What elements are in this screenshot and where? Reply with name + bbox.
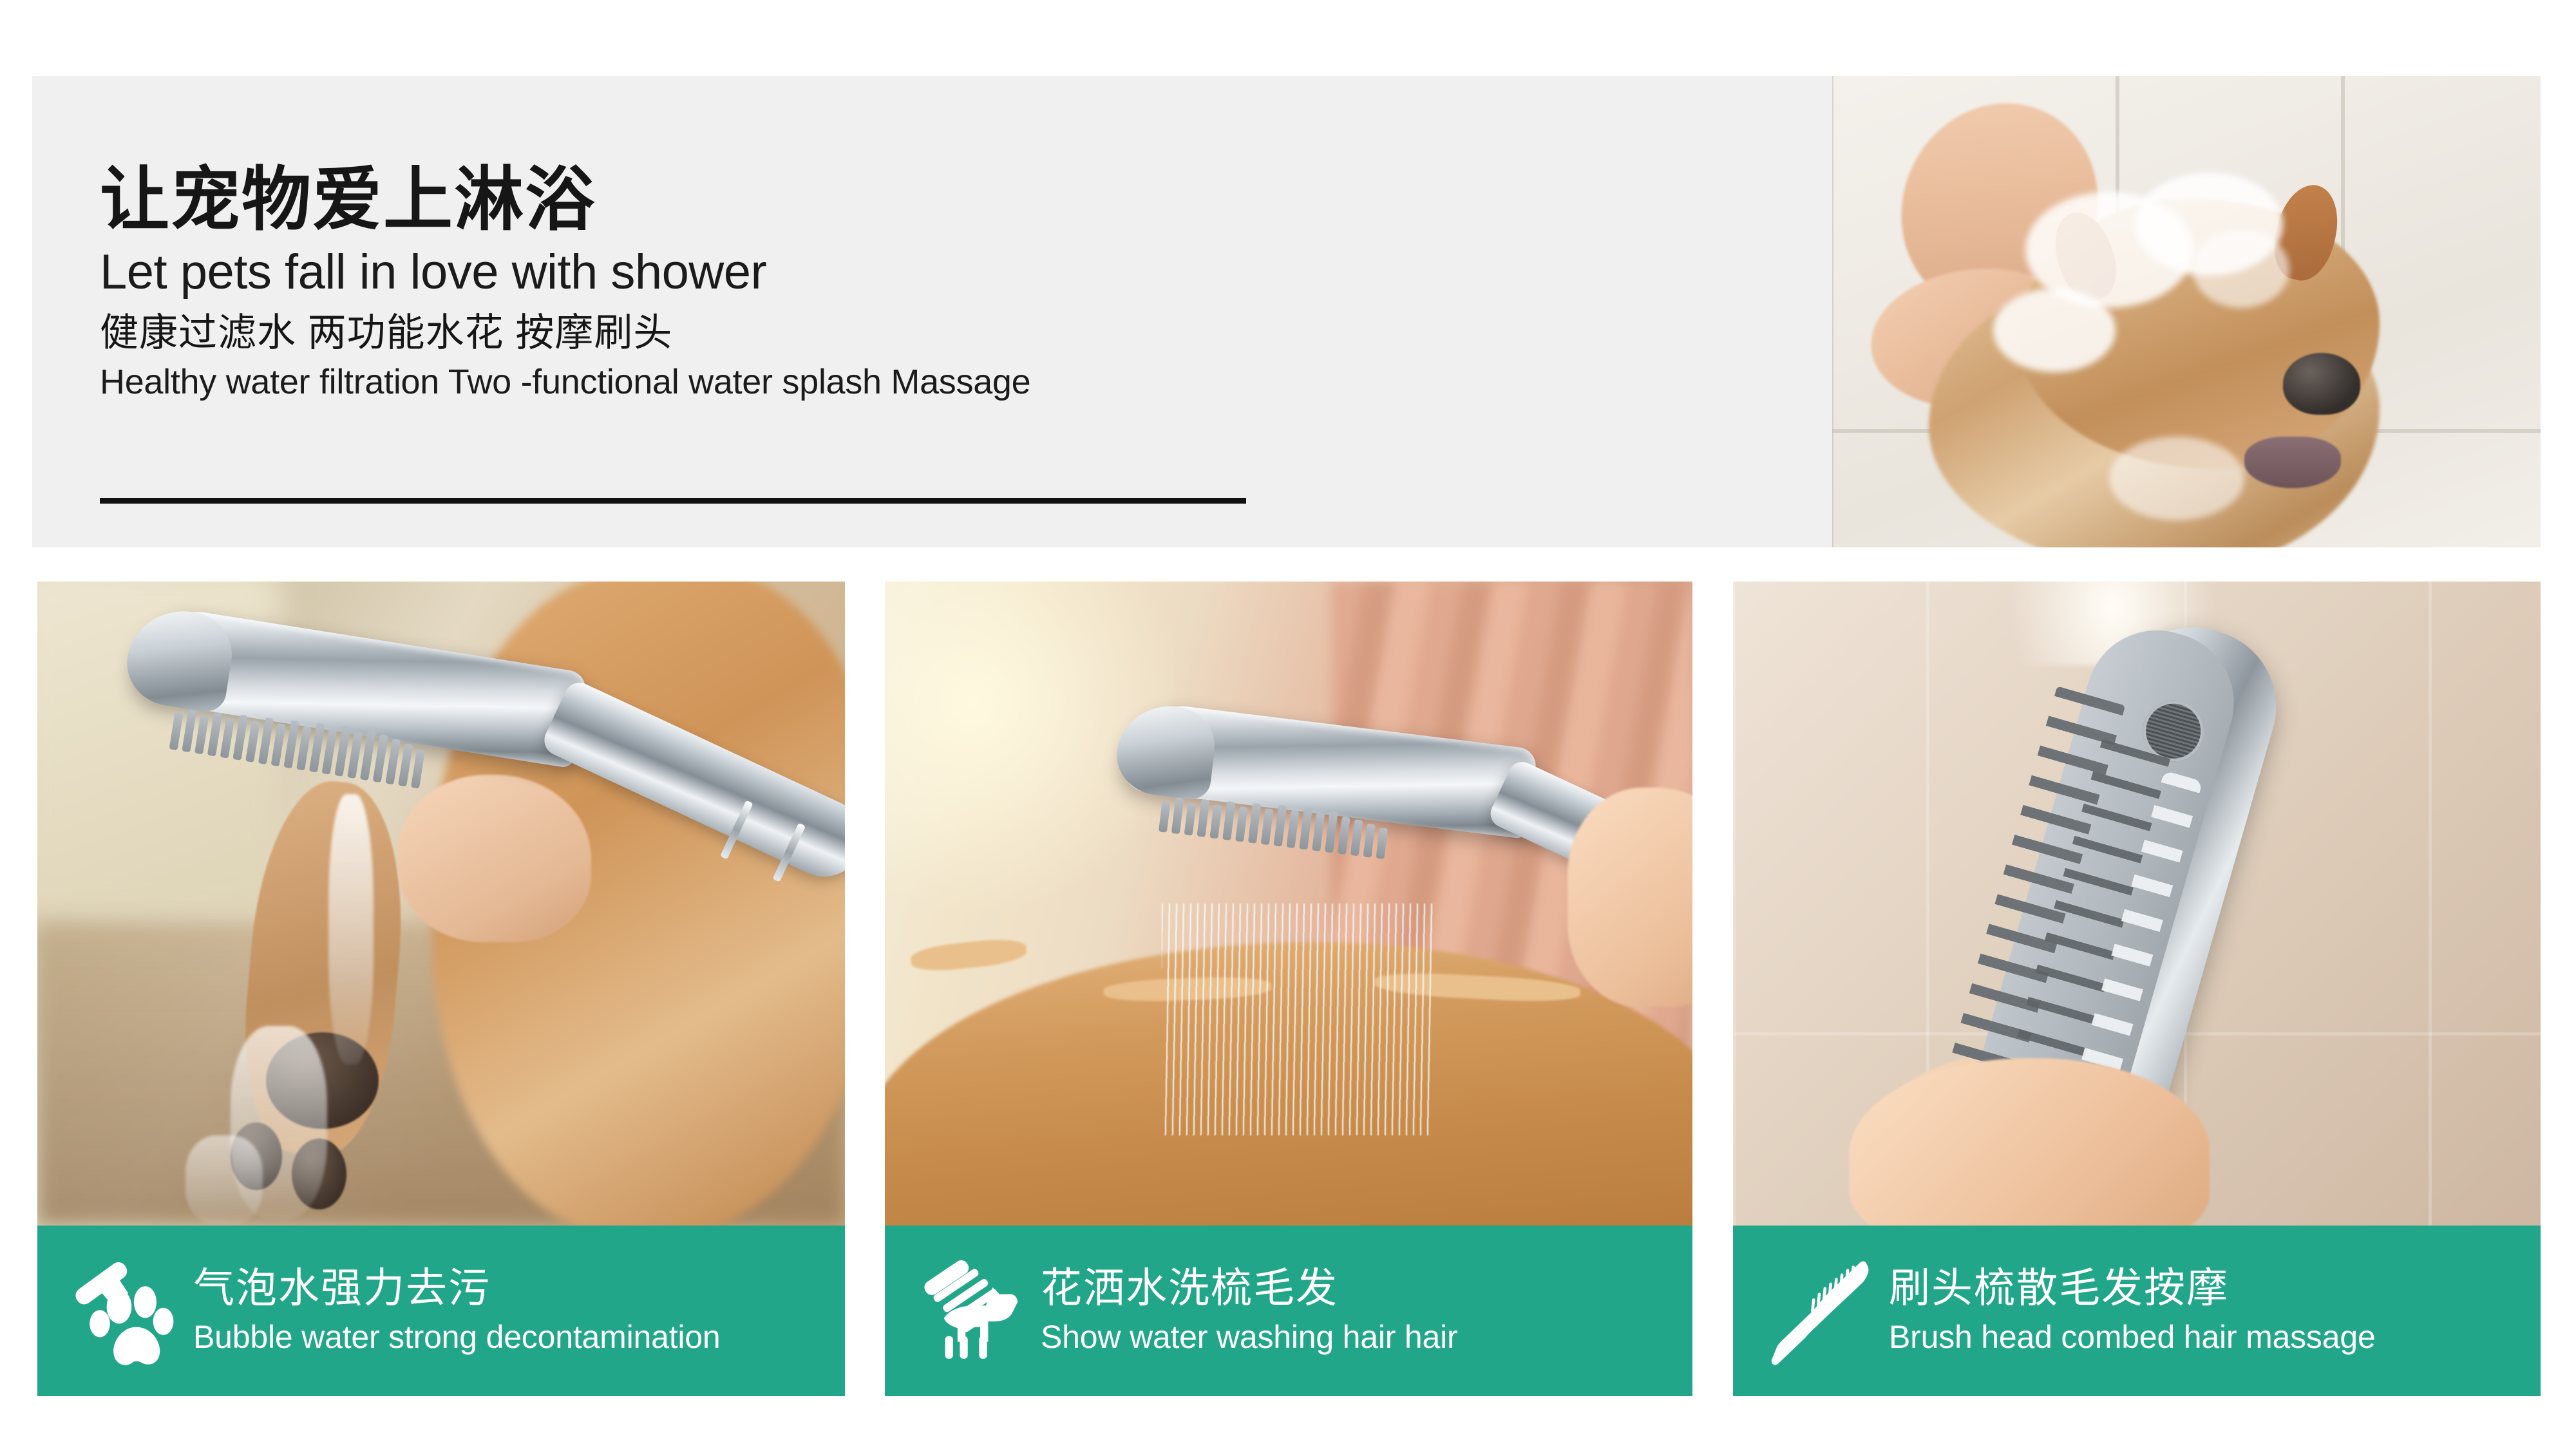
shower-dog-icon — [914, 1255, 1028, 1368]
title-underline-rule — [100, 498, 1246, 504]
card-photo — [885, 582, 1692, 1226]
caption-en: Bubble water strong decontamination — [193, 1318, 721, 1356]
card-photo — [1733, 582, 2541, 1226]
caption-bar: 花洒水洗梳毛发 Show water washing hair hair — [885, 1226, 1692, 1396]
page-subtitle-cn: 健康过滤水 两功能水花 按摩刷头 — [100, 309, 1452, 356]
caption-cn: 花洒水洗梳毛发 — [1041, 1266, 1458, 1311]
card-photo — [37, 582, 845, 1226]
feature-card[interactable]: 气泡水强力去污 Bubble water strong decontaminat… — [37, 582, 845, 1396]
product-banner-page: 让宠物爱上淋浴 Let pets fall in love with showe… — [0, 0, 2576, 1449]
hero-photo — [1832, 76, 2541, 547]
hero-copy-block: 让宠物爱上淋浴 Let pets fall in love with showe… — [100, 160, 1452, 403]
caption-text: 气泡水强力去污 Bubble water strong decontaminat… — [193, 1266, 721, 1356]
feature-card[interactable]: 花洒水洗梳毛发 Show water washing hair hair — [885, 582, 1692, 1396]
caption-en: Brush head combed hair massage — [1889, 1318, 2376, 1356]
caption-text: 花洒水洗梳毛发 Show water washing hair hair — [1041, 1266, 1458, 1356]
feature-card[interactable]: 刷头梳散毛发按摩 Brush head combed hair massage — [1733, 582, 2541, 1396]
feature-card-row: 气泡水强力去污 Bubble water strong decontaminat… — [37, 582, 2541, 1396]
page-title-en: Let pets fall in love with shower — [100, 243, 1452, 301]
caption-cn: 气泡水强力去污 — [193, 1266, 721, 1311]
hand — [1567, 788, 1692, 1007]
shower-paw-icon — [67, 1255, 180, 1368]
caption-cn: 刷头梳散毛发按摩 — [1889, 1266, 2376, 1311]
caption-en: Show water washing hair hair — [1041, 1318, 1458, 1356]
caption-bar: 气泡水强力去污 Bubble water strong decontaminat… — [37, 1226, 845, 1396]
caption-bar: 刷头梳散毛发按摩 Brush head combed hair massage — [1733, 1226, 2541, 1396]
caption-text: 刷头梳散毛发按摩 Brush head combed hair massage — [1889, 1266, 2376, 1356]
brush-wand-icon — [1763, 1255, 1876, 1368]
page-title-cn: 让宠物爱上淋浴 — [100, 160, 1452, 239]
hero-header: 让宠物爱上淋浴 Let pets fall in love with showe… — [32, 76, 2541, 547]
page-subtitle-en: Healthy water filtration Two -functional… — [100, 361, 1452, 403]
